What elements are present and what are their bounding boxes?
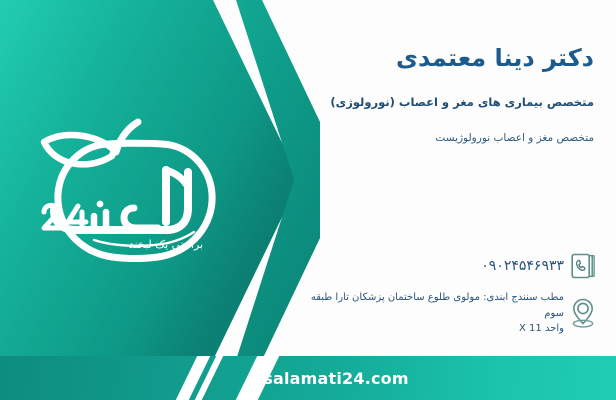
address-line-1: مطب سنندج ابندی: مولوی طلوع ساختمان پزشک…: [311, 292, 564, 319]
phone-contact-row[interactable]: ۰۹۰۲۴۵۴۶۹۳۳: [473, 250, 598, 282]
footer-bar: salamati24.com: [0, 356, 616, 400]
address-contact-row[interactable]: مطب سنندج ابندی: مولوی طلوع ساختمان پزشک…: [300, 290, 598, 337]
map-pin-icon: [568, 297, 598, 329]
address-line-2: واحد 11 X: [308, 321, 564, 337]
svg-text:براحتی یک لبخند: براحتی یک لبخند: [129, 238, 203, 251]
doctor-specialty-secondary: متخصص مغز و اعصاب نورولوژیست: [435, 132, 594, 144]
phone-number: ۰۹۰۲۴۵۴۶۹۳۳: [481, 258, 564, 274]
business-card: براحتی یک لبخند www.salamati24.com دکتر …: [0, 0, 616, 400]
phone-book-icon: [568, 250, 598, 282]
doctor-specialty-primary: متخصص بیماری های مغر و اعصاب (نورولوژی): [330, 95, 594, 109]
address-text: مطب سنندج ابندی: مولوی طلوع ساختمان پزشک…: [308, 290, 564, 337]
footer-website[interactable]: salamati24.com: [0, 356, 616, 400]
salamati24-apple-logo: براحتی یک لبخند www.salamati24.com: [16, 112, 244, 262]
doctor-name: دکتر دینا معتمدی: [396, 44, 594, 72]
